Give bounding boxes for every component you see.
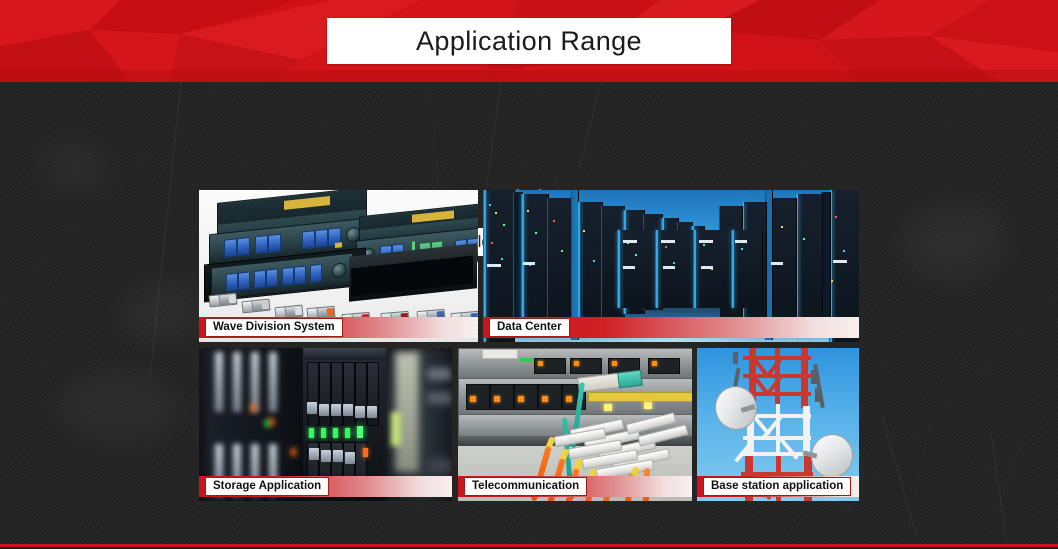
tile-caption-bar: Data Center — [483, 317, 859, 338]
page-header: Application Range — [0, 0, 1058, 82]
page-title: Application Range — [416, 26, 642, 57]
tile-telecommunication[interactable]: Telecommunication — [458, 348, 692, 501]
tile-wave-division-system[interactable]: Wave Division System — [199, 190, 478, 342]
tile-label: Data Center — [489, 318, 570, 337]
tile-label: Telecommunication — [464, 477, 587, 496]
tile-label: Wave Division System — [205, 318, 343, 337]
tile-base-station-application[interactable]: Base station application — [697, 348, 859, 501]
tile-storage-application[interactable]: Storage Application — [199, 348, 452, 501]
tile-caption-bar: Wave Division System — [199, 317, 478, 338]
tile-caption-bar: Base station application — [697, 476, 859, 497]
tile-label: Storage Application — [205, 477, 329, 496]
tile-caption-bar: Storage Application — [199, 476, 452, 497]
background-smudge — [900, 202, 1010, 282]
background-smudge — [120, 282, 210, 342]
tile-label: Base station application — [703, 477, 851, 496]
application-range-banner: Application Range Wide range of fields t… — [0, 0, 1058, 549]
background-smudge — [60, 372, 180, 442]
background-smudge — [40, 142, 110, 192]
page-title-box: Application Range — [327, 18, 731, 64]
tile-caption-bar: Telecommunication — [458, 476, 692, 497]
tile-data-center[interactable]: Data Center — [483, 190, 859, 342]
